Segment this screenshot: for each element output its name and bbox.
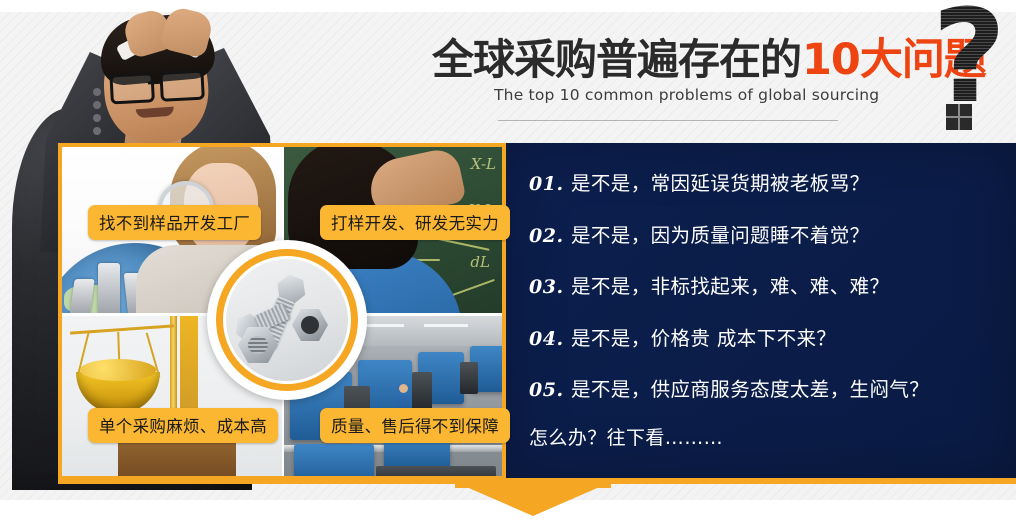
list-item-text: 是不是，常因延误货期被老板骂？	[571, 167, 870, 196]
glasses-icon	[109, 70, 206, 99]
list-item-number: 04.	[529, 328, 571, 350]
list-item: 05. 是不是，供应商服务态度太差，生闷气？	[529, 373, 1004, 402]
machine-shape	[294, 444, 374, 476]
infographic-banner: 全球采购普遍存在的 10大问题 The top 10 common proble…	[0, 0, 1016, 531]
subtitle-underline	[498, 120, 838, 121]
chalk-text-1: X-L	[471, 155, 496, 173]
footer-note: 怎么办？往下看………	[529, 423, 1004, 450]
problems-list: 01. 是不是，常因延误货期被老板骂？ 02. 是不是，因为质量问题睡不着觉？ …	[529, 167, 1004, 450]
machine-dark-shape	[376, 466, 496, 476]
list-item: 04. 是不是，价格贵 成本下不来？	[529, 322, 1004, 351]
question-mark-dot	[946, 104, 972, 130]
bolts-photo	[226, 259, 348, 381]
collage-caption-4: 质量、售后得不到保障	[320, 408, 510, 443]
sleeve-buttons	[93, 88, 103, 132]
machine-dark-shape	[412, 372, 432, 410]
list-item-number: 03.	[529, 276, 571, 298]
machine-dark-shape	[460, 362, 478, 394]
title-black-part: 全球采购普遍存在的	[432, 38, 801, 82]
list-item-text: 是不是，供应商服务态度太差，生闷气？	[571, 373, 929, 402]
list-item-number: 05.	[529, 379, 571, 401]
list-item: 01. 是不是，常因延误货期被老板骂？	[529, 167, 1004, 196]
bolts-badge-ring	[216, 249, 358, 391]
collage-caption-2: 打样开发、研发无实力	[320, 205, 510, 240]
list-item-text: 是不是，价格贵 成本下不来？	[571, 322, 836, 351]
list-item-number: 01.	[529, 173, 571, 195]
list-item-text: 是不是，非标找起来，难、难、难？	[571, 270, 889, 299]
page-title: 全球采购普遍存在的 10大问题	[432, 38, 1016, 82]
list-item: 02. 是不是，因为质量问题睡不着觉？	[529, 219, 1004, 248]
bolts-badge	[207, 240, 367, 400]
chalk-text-3: dL	[470, 253, 490, 271]
list-item: 03. 是不是，非标找起来，难、难、难？	[529, 270, 1004, 299]
list-item-number: 02.	[529, 225, 571, 247]
header-title-block: 全球采购普遍存在的 10大问题 The top 10 common proble…	[432, 38, 1016, 138]
problems-panel: 01. 是不是，常因延误货期被老板骂？ 02. 是不是，因为质量问题睡不着觉？ …	[505, 143, 1016, 480]
list-item-text: 是不是，因为质量问题睡不着觉？	[571, 219, 870, 248]
scale-beam-shape	[70, 324, 174, 334]
down-arrow-icon	[455, 482, 611, 516]
question-mark-icon: ?	[936, 18, 1014, 130]
collage-caption-3: 单个采购麻烦、成本高	[88, 408, 278, 443]
collage-caption-1: 找不到样品开发工厂	[88, 205, 261, 240]
